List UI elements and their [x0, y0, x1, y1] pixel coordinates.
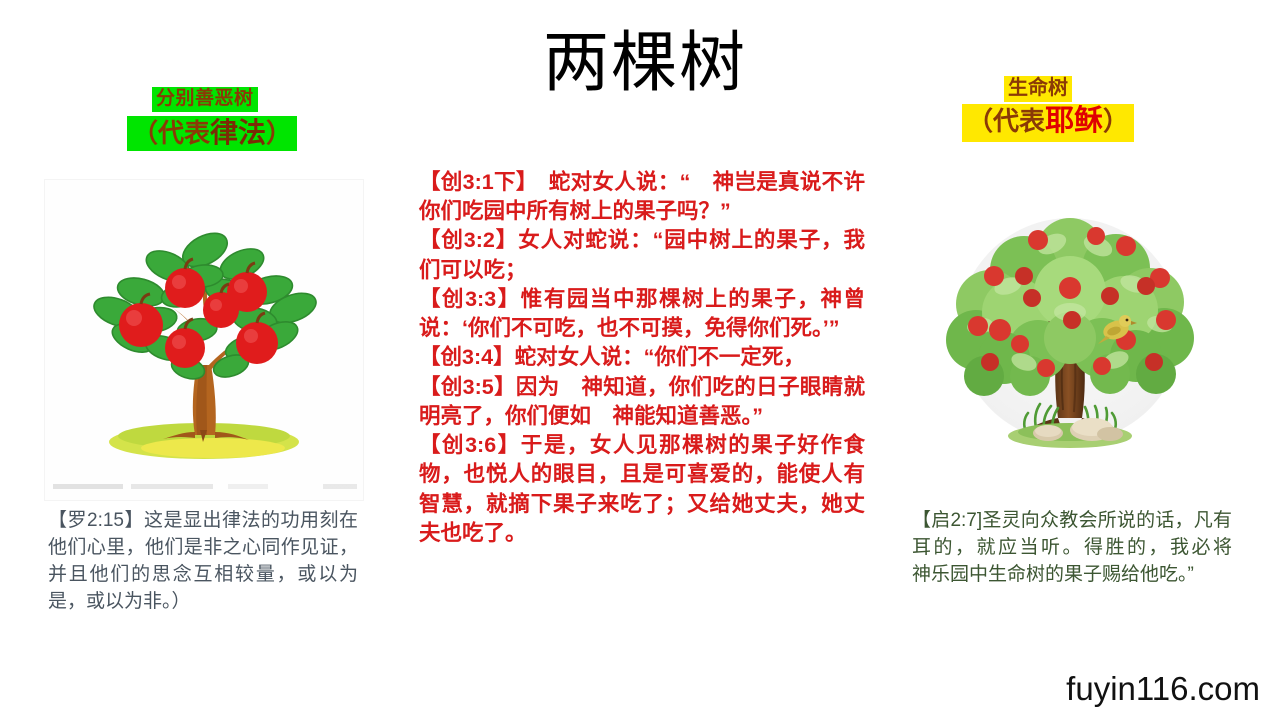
left-label-emphasis: 律法: [210, 117, 266, 148]
scripture-verse: 【创3:5】因为 神知道，你们吃的日子眼睛就明亮了，你们便如 神能知道善恶。”: [419, 373, 865, 431]
right-tree-label-secondary: （代表耶稣）: [962, 104, 1134, 142]
left-tree-label-secondary: （代表律法）: [127, 116, 297, 151]
right-panel-caption: 【启2:7]圣灵向众教会所说的话，凡有耳的，就应当听。得胜的，我必将 神乐园中生…: [912, 508, 1232, 589]
right-label-emphasis: 耶稣: [1045, 105, 1103, 137]
left-panel-caption: 【罗2:15】这是显出律法的功用刻在他们心里，他们是非之心同作见证，并且他们的思…: [48, 508, 358, 616]
left-label-prefix: （代表: [132, 118, 210, 148]
scripture-verse: 【创3:4】蛇对女人说：“你们不一定死，: [419, 343, 865, 372]
left-tree-image: [45, 180, 363, 500]
left-tree-label-primary: 分别善恶树: [152, 87, 258, 112]
scripture-verse: 【创3:6】于是，女人见那棵树的果子好作食物，也悦人的眼目，且是可喜爱的，能使人…: [419, 431, 865, 548]
right-tree-label-primary: 生命树: [1004, 76, 1072, 102]
site-watermark: fuyin116.com: [1066, 670, 1260, 708]
left-label-suffix: ）: [266, 118, 292, 148]
center-scripture-block: 【创3:1下】 蛇对女人说：“ 神岂是真说不许你们吃园中所有树上的果子吗？” 【…: [419, 168, 865, 548]
apple-tree-icon: [45, 180, 363, 500]
scripture-verse: 【创3:3】惟有园当中那棵树上的果子，神曾说：‘你们不可吃，也不可摸，免得你们死…: [419, 285, 865, 343]
scripture-verse: 【创3:1下】 蛇对女人说：“ 神岂是真说不许你们吃园中所有树上的果子吗？”: [419, 168, 865, 226]
right-label-suffix: ）: [1103, 106, 1129, 136]
image-watermark-strip: [53, 482, 357, 496]
right-label-prefix: （代表: [967, 106, 1045, 136]
scripture-verse: 【创3:2】女人对蛇说：“园中树上的果子，我们可以吃；: [419, 226, 865, 284]
page-title: 两棵树: [470, 28, 820, 97]
tree-of-life-icon: [920, 180, 1220, 500]
right-tree-image: [920, 180, 1220, 500]
